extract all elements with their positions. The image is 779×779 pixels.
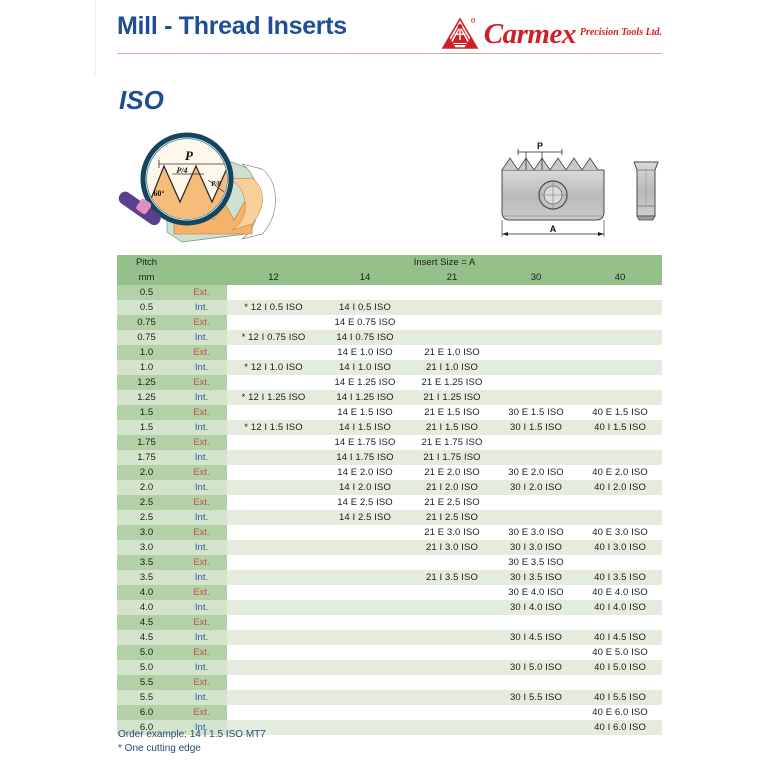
cell-insert-code: 40 E 1.5 ISO xyxy=(578,405,662,420)
cell-insert-code: 21 I 3.0 ISO xyxy=(410,540,494,555)
cell-insert-code xyxy=(320,600,410,615)
cell-insert-code xyxy=(578,495,662,510)
cell-insert-code: 30 E 1.5 ISO xyxy=(494,405,578,420)
cell-insert-code: 30 E 4.0 ISO xyxy=(494,585,578,600)
cell-insert-code: 30 I 3.5 ISO xyxy=(494,570,578,585)
cell-insert-code: 14 I 0.5 ISO xyxy=(320,300,410,315)
table-row: 3.0Ext.21 E 3.0 ISO30 E 3.0 ISO40 E 3.0 … xyxy=(117,525,662,540)
table-row: 4.5Ext. xyxy=(117,615,662,630)
table-row: 5.0Int.30 I 5.0 ISO40 I 5.0 ISO xyxy=(117,660,662,675)
table-header-row-group: Pitch mm Insert Size = A xyxy=(117,255,662,270)
cell-mode: Ext. xyxy=(176,315,227,330)
cell-insert-code xyxy=(227,555,320,570)
cell-insert-code: 14 I 1.75 ISO xyxy=(320,450,410,465)
cell-insert-code xyxy=(320,570,410,585)
cell-insert-code xyxy=(320,615,410,630)
cell-insert-code: 40 E 4.0 ISO xyxy=(578,585,662,600)
section-title: ISO xyxy=(119,85,164,116)
cell-insert-code xyxy=(320,585,410,600)
cell-insert-code xyxy=(578,675,662,690)
cell-insert-code xyxy=(410,330,494,345)
header-pitch: Pitch mm xyxy=(117,255,176,285)
cell-insert-code xyxy=(410,600,494,615)
carmex-logo: Carmex Precision Tools Ltd. xyxy=(440,14,662,54)
cell-pitch: 1.0 xyxy=(117,360,176,375)
cutting-edge-note: * One cutting edge xyxy=(118,742,266,756)
cell-pitch: 1.5 xyxy=(117,405,176,420)
cell-insert-code: 40 E 3.0 ISO xyxy=(578,525,662,540)
insert-dimension-illustration: P A xyxy=(492,140,667,245)
cell-insert-code: 14 I 0.75 ISO xyxy=(320,330,410,345)
page-title: Mill - Thread Inserts xyxy=(117,12,347,41)
cell-insert-code xyxy=(578,555,662,570)
cell-insert-code xyxy=(578,615,662,630)
cell-insert-code xyxy=(320,555,410,570)
cell-mode: Ext. xyxy=(176,375,227,390)
cell-insert-code xyxy=(578,345,662,360)
insert-size-table-wrapper: Pitch mm Insert Size = A 12 14 21 30 40 … xyxy=(117,255,662,735)
cell-mode: Int. xyxy=(176,660,227,675)
table-row: 1.75Int.14 I 1.75 ISO21 I 1.75 ISO xyxy=(117,450,662,465)
svg-text:P/4: P/4 xyxy=(176,166,187,175)
cell-insert-code xyxy=(227,405,320,420)
cell-insert-code xyxy=(494,375,578,390)
cell-pitch: 3.5 xyxy=(117,570,176,585)
cell-insert-code xyxy=(227,315,320,330)
table-row: 5.0Ext.40 E 5.0 ISO xyxy=(117,645,662,660)
cell-insert-code xyxy=(494,720,578,735)
logo-tagline: Precision Tools Ltd. xyxy=(580,28,662,41)
table-row: 2.0Int.14 I 2.0 ISO21 I 2.0 ISO30 I 2.0 … xyxy=(117,480,662,495)
cell-insert-code xyxy=(494,390,578,405)
cell-pitch: 1.5 xyxy=(117,420,176,435)
cell-insert-code xyxy=(320,540,410,555)
cell-insert-code xyxy=(227,660,320,675)
cell-insert-code xyxy=(227,690,320,705)
table-row: 1.25Int.* 12 I 1.25 ISO14 I 1.25 ISO21 I… xyxy=(117,390,662,405)
thread-profile-magnifier-illustration: P P/4 P/8 60° xyxy=(112,124,282,246)
cell-insert-code xyxy=(227,495,320,510)
cell-pitch: 4.5 xyxy=(117,630,176,645)
cell-mode: Int. xyxy=(176,300,227,315)
cell-mode: Ext. xyxy=(176,675,227,690)
svg-text:A: A xyxy=(550,224,557,234)
cell-mode: Int. xyxy=(176,480,227,495)
document-page: Mill - Thread Inserts Carmex Precision T… xyxy=(0,0,779,779)
cell-insert-code xyxy=(320,690,410,705)
cell-insert-code: 21 I 1.25 ISO xyxy=(410,390,494,405)
cell-insert-code xyxy=(320,660,410,675)
cell-insert-code xyxy=(578,300,662,315)
cell-pitch: 5.5 xyxy=(117,690,176,705)
cell-insert-code: 21 I 1.5 ISO xyxy=(410,420,494,435)
cell-insert-code xyxy=(410,675,494,690)
table-row: 1.0Int.* 12 I 1.0 ISO14 I 1.0 ISO21 I 1.… xyxy=(117,360,662,375)
cell-insert-code: 30 E 2.0 ISO xyxy=(494,465,578,480)
table-row: 0.75Int.* 12 I 0.75 ISO14 I 0.75 ISO xyxy=(117,330,662,345)
cell-pitch: 0.75 xyxy=(117,330,176,345)
cell-insert-code: 40 I 1.5 ISO xyxy=(578,420,662,435)
page-header: Mill - Thread Inserts Carmex Precision T… xyxy=(117,12,662,54)
cell-insert-code: 40 I 6.0 ISO xyxy=(578,720,662,735)
cell-insert-code xyxy=(410,630,494,645)
cell-insert-code: * 12 I 0.75 ISO xyxy=(227,330,320,345)
cell-insert-code: 30 I 1.5 ISO xyxy=(494,420,578,435)
cell-pitch: 5.5 xyxy=(117,675,176,690)
cell-insert-code: 40 I 5.0 ISO xyxy=(578,660,662,675)
cell-insert-code: 30 I 4.0 ISO xyxy=(494,600,578,615)
cell-mode: Int. xyxy=(176,450,227,465)
cell-insert-code xyxy=(494,330,578,345)
cell-insert-code xyxy=(410,720,494,735)
cell-insert-code xyxy=(227,630,320,645)
cell-insert-code: 30 I 2.0 ISO xyxy=(494,480,578,495)
cell-mode: Ext. xyxy=(176,345,227,360)
cell-mode: Int. xyxy=(176,420,227,435)
cell-insert-code xyxy=(320,285,410,300)
cell-insert-code: 21 E 1.25 ISO xyxy=(410,375,494,390)
cell-insert-code: 14 I 2.0 ISO xyxy=(320,480,410,495)
cell-insert-code xyxy=(494,435,578,450)
svg-text:P: P xyxy=(537,141,543,151)
cell-pitch: 1.75 xyxy=(117,450,176,465)
cell-pitch: 3.0 xyxy=(117,525,176,540)
cell-insert-code: 40 E 6.0 ISO xyxy=(578,705,662,720)
cell-insert-code xyxy=(320,645,410,660)
cell-insert-code xyxy=(494,510,578,525)
cell-insert-code: 30 E 3.0 ISO xyxy=(494,525,578,540)
cell-insert-code xyxy=(578,510,662,525)
header-size-30: 30 xyxy=(494,270,578,285)
cell-insert-code xyxy=(410,615,494,630)
cell-mode: Ext. xyxy=(176,465,227,480)
cell-insert-code xyxy=(494,345,578,360)
cell-insert-code: 21 E 2.5 ISO xyxy=(410,495,494,510)
cell-insert-code: 40 I 3.0 ISO xyxy=(578,540,662,555)
header-pitch-line1: Pitch xyxy=(136,257,157,268)
cell-insert-code xyxy=(227,435,320,450)
svg-text:P: P xyxy=(185,148,194,163)
insert-side-view xyxy=(634,162,658,220)
cell-insert-code xyxy=(320,705,410,720)
cell-mode: Int. xyxy=(176,570,227,585)
cell-insert-code xyxy=(227,705,320,720)
cell-insert-code: 14 E 1.75 ISO xyxy=(320,435,410,450)
table-row: 0.5Int.* 12 I 0.5 ISO14 I 0.5 ISO xyxy=(117,300,662,315)
cell-insert-code xyxy=(578,285,662,300)
cell-insert-code: * 12 I 1.0 ISO xyxy=(227,360,320,375)
cell-insert-code: 40 I 2.0 ISO xyxy=(578,480,662,495)
cell-mode: Ext. xyxy=(176,585,227,600)
cell-pitch: 3.0 xyxy=(117,540,176,555)
cell-pitch: 1.25 xyxy=(117,375,176,390)
header-mode xyxy=(176,255,227,285)
table-row: 3.0Int.21 I 3.0 ISO30 I 3.0 ISO40 I 3.0 … xyxy=(117,540,662,555)
cell-insert-code: 14 I 1.25 ISO xyxy=(320,390,410,405)
svg-text:P/8: P/8 xyxy=(211,180,221,188)
table-row: 1.25Ext.14 E 1.25 ISO21 E 1.25 ISO xyxy=(117,375,662,390)
cell-insert-code xyxy=(227,465,320,480)
cell-insert-code: 14 E 1.25 ISO xyxy=(320,375,410,390)
insert-front-view xyxy=(502,158,604,220)
table-row: 2.5Ext.14 E 2.5 ISO21 E 2.5 ISO xyxy=(117,495,662,510)
logo-wordmark: Carmex xyxy=(484,20,576,49)
cell-insert-code: 21 I 2.5 ISO xyxy=(410,510,494,525)
cell-insert-code xyxy=(410,690,494,705)
header-size-40: 40 xyxy=(578,270,662,285)
cell-insert-code xyxy=(410,660,494,675)
cell-mode: Ext. xyxy=(176,555,227,570)
cell-insert-code: 14 E 0.75 ISO xyxy=(320,315,410,330)
cell-insert-code xyxy=(227,510,320,525)
carmex-triangle-logo-icon xyxy=(440,17,480,51)
cell-insert-code xyxy=(227,375,320,390)
cell-insert-code xyxy=(410,285,494,300)
cell-insert-code xyxy=(578,450,662,465)
cell-insert-code xyxy=(227,585,320,600)
cell-insert-code: 14 I 1.5 ISO xyxy=(320,420,410,435)
cell-pitch: 4.0 xyxy=(117,600,176,615)
order-example-note: Order example: 14 I 1.5 ISO MT7 xyxy=(118,728,266,742)
table-head: Pitch mm Insert Size = A 12 14 21 30 40 xyxy=(117,255,662,285)
cell-insert-code: 40 I 5.5 ISO xyxy=(578,690,662,705)
cell-insert-code: 30 I 5.0 ISO xyxy=(494,660,578,675)
footer-notes: Order example: 14 I 1.5 ISO MT7 * One cu… xyxy=(118,728,266,756)
cell-mode: Ext. xyxy=(176,405,227,420)
cell-insert-code xyxy=(494,315,578,330)
cell-pitch: 2.5 xyxy=(117,495,176,510)
cell-insert-code xyxy=(410,645,494,660)
width-dimension: A xyxy=(502,220,604,237)
cell-insert-code: 14 E 1.5 ISO xyxy=(320,405,410,420)
cell-insert-code xyxy=(578,315,662,330)
cell-pitch: 6.0 xyxy=(117,705,176,720)
insert-size-table: Pitch mm Insert Size = A 12 14 21 30 40 … xyxy=(117,255,662,735)
table-row: 4.5Int.30 I 4.5 ISO40 I 4.5 ISO xyxy=(117,630,662,645)
cell-insert-code: 40 E 5.0 ISO xyxy=(578,645,662,660)
cell-pitch: 0.5 xyxy=(117,300,176,315)
cell-mode: Int. xyxy=(176,510,227,525)
table-body: 0.5Ext.0.5Int.* 12 I 0.5 ISO14 I 0.5 ISO… xyxy=(117,285,662,735)
cell-insert-code: 21 I 1.0 ISO xyxy=(410,360,494,375)
cell-insert-code: 21 I 2.0 ISO xyxy=(410,480,494,495)
cell-insert-code: 21 I 1.75 ISO xyxy=(410,450,494,465)
cell-insert-code: 21 E 1.75 ISO xyxy=(410,435,494,450)
cell-insert-code xyxy=(410,705,494,720)
cell-mode: Int. xyxy=(176,360,227,375)
cell-insert-code xyxy=(578,390,662,405)
cell-insert-code xyxy=(578,360,662,375)
cell-mode: Int. xyxy=(176,390,227,405)
cell-insert-code: 30 I 5.5 ISO xyxy=(494,690,578,705)
cell-insert-code: 14 E 2.0 ISO xyxy=(320,465,410,480)
left-margin-rule xyxy=(95,0,96,75)
cell-pitch: 1.0 xyxy=(117,345,176,360)
cell-insert-code xyxy=(227,525,320,540)
cell-pitch: 0.75 xyxy=(117,315,176,330)
cell-mode: Int. xyxy=(176,540,227,555)
table-row: 2.5Int.14 I 2.5 ISO21 I 2.5 ISO xyxy=(117,510,662,525)
header-size-12: 12 xyxy=(227,270,320,285)
cell-pitch: 2.5 xyxy=(117,510,176,525)
cell-mode: Ext. xyxy=(176,285,227,300)
cell-insert-code xyxy=(410,315,494,330)
cell-insert-code: 30 E 3.5 ISO xyxy=(494,555,578,570)
header-divider xyxy=(117,53,662,54)
cell-insert-code xyxy=(227,450,320,465)
cell-pitch: 5.0 xyxy=(117,660,176,675)
cell-insert-code: 21 E 1.5 ISO xyxy=(410,405,494,420)
cell-insert-code xyxy=(494,300,578,315)
cell-insert-code xyxy=(227,345,320,360)
cell-insert-code xyxy=(227,570,320,585)
cell-insert-code: 21 E 2.0 ISO xyxy=(410,465,494,480)
table-row: 1.5Int.* 12 I 1.5 ISO14 I 1.5 ISO21 I 1.… xyxy=(117,420,662,435)
cell-mode: Ext. xyxy=(176,645,227,660)
cell-insert-code xyxy=(494,495,578,510)
cell-mode: Int. xyxy=(176,630,227,645)
cell-insert-code: 21 E 3.0 ISO xyxy=(410,525,494,540)
cell-pitch: 1.75 xyxy=(117,435,176,450)
cell-pitch: 2.0 xyxy=(117,480,176,495)
header-pitch-line2: mm xyxy=(139,272,155,283)
table-row: 1.5Ext.14 E 1.5 ISO21 E 1.5 ISO30 E 1.5 … xyxy=(117,405,662,420)
table-row: 5.5Int.30 I 5.5 ISO40 I 5.5 ISO xyxy=(117,690,662,705)
header-size-21: 21 xyxy=(410,270,494,285)
cell-insert-code xyxy=(494,285,578,300)
cell-insert-code xyxy=(578,330,662,345)
cell-insert-code xyxy=(227,480,320,495)
cell-insert-code: 30 I 4.5 ISO xyxy=(494,630,578,645)
cell-mode: Ext. xyxy=(176,615,227,630)
cell-insert-code xyxy=(227,645,320,660)
cell-insert-code: 14 E 2.5 ISO xyxy=(320,495,410,510)
cell-pitch: 1.25 xyxy=(117,390,176,405)
cell-insert-code: 14 I 2.5 ISO xyxy=(320,510,410,525)
cell-insert-code xyxy=(320,630,410,645)
cell-pitch: 2.0 xyxy=(117,465,176,480)
cell-insert-code xyxy=(578,375,662,390)
cell-insert-code xyxy=(227,540,320,555)
header-size-14: 14 xyxy=(320,270,410,285)
table-row: 5.5Ext. xyxy=(117,675,662,690)
table-row: 2.0Ext.14 E 2.0 ISO21 E 2.0 ISO30 E 2.0 … xyxy=(117,465,662,480)
cell-insert-code xyxy=(320,525,410,540)
cell-mode: Int. xyxy=(176,330,227,345)
cell-insert-code xyxy=(410,555,494,570)
cell-insert-code xyxy=(494,615,578,630)
cell-mode: Ext. xyxy=(176,705,227,720)
table-row: 4.0Int.30 I 4.0 ISO40 I 4.0 ISO xyxy=(117,600,662,615)
table-row: 1.75Ext.14 E 1.75 ISO21 E 1.75 ISO xyxy=(117,435,662,450)
cell-insert-code: 40 I 4.0 ISO xyxy=(578,600,662,615)
cell-insert-code xyxy=(227,285,320,300)
table-row: 3.5Int.21 I 3.5 ISO30 I 3.5 ISO40 I 3.5 … xyxy=(117,570,662,585)
cell-insert-code: 14 I 1.0 ISO xyxy=(320,360,410,375)
cell-insert-code xyxy=(494,645,578,660)
cell-insert-code xyxy=(227,675,320,690)
cell-mode: Ext. xyxy=(176,495,227,510)
cell-mode: Ext. xyxy=(176,435,227,450)
table-row: 1.0Ext.14 E 1.0 ISO21 E 1.0 ISO xyxy=(117,345,662,360)
cell-pitch: 0.5 xyxy=(117,285,176,300)
table-row: 0.75Ext.14 E 0.75 ISO xyxy=(117,315,662,330)
cell-mode: Ext. xyxy=(176,525,227,540)
cell-insert-code: 40 E 2.0 ISO xyxy=(578,465,662,480)
cell-insert-code xyxy=(494,675,578,690)
cell-insert-code: 40 I 3.5 ISO xyxy=(578,570,662,585)
cell-insert-code: 14 E 1.0 ISO xyxy=(320,345,410,360)
cell-insert-code: 40 I 4.5 ISO xyxy=(578,630,662,645)
header-insert-size-group: Insert Size = A xyxy=(227,255,662,270)
cell-mode: Int. xyxy=(176,690,227,705)
cell-insert-code: 30 I 3.0 ISO xyxy=(494,540,578,555)
cell-insert-code: * 12 I 1.5 ISO xyxy=(227,420,320,435)
cell-insert-code xyxy=(494,705,578,720)
cell-insert-code xyxy=(320,675,410,690)
cell-insert-code xyxy=(494,450,578,465)
cell-insert-code xyxy=(227,615,320,630)
cell-insert-code xyxy=(410,300,494,315)
cell-insert-code: * 12 I 0.5 ISO xyxy=(227,300,320,315)
table-row: 6.0Ext.40 E 6.0 ISO xyxy=(117,705,662,720)
cell-insert-code: * 12 I 1.25 ISO xyxy=(227,390,320,405)
svg-text:60°: 60° xyxy=(153,189,164,198)
cell-pitch: 4.5 xyxy=(117,615,176,630)
cell-insert-code xyxy=(578,435,662,450)
cell-insert-code: 21 I 3.5 ISO xyxy=(410,570,494,585)
cell-insert-code xyxy=(494,360,578,375)
cell-insert-code xyxy=(227,600,320,615)
table-row: 3.5Ext.30 E 3.5 ISO xyxy=(117,555,662,570)
cell-insert-code xyxy=(320,720,410,735)
cell-pitch: 3.5 xyxy=(117,555,176,570)
cell-pitch: 4.0 xyxy=(117,585,176,600)
table-row: 0.5Ext. xyxy=(117,285,662,300)
cell-mode: Int. xyxy=(176,600,227,615)
cell-pitch: 5.0 xyxy=(117,645,176,660)
cell-insert-code: 21 E 1.0 ISO xyxy=(410,345,494,360)
table-row: 4.0Ext.30 E 4.0 ISO40 E 4.0 ISO xyxy=(117,585,662,600)
cell-insert-code xyxy=(410,585,494,600)
